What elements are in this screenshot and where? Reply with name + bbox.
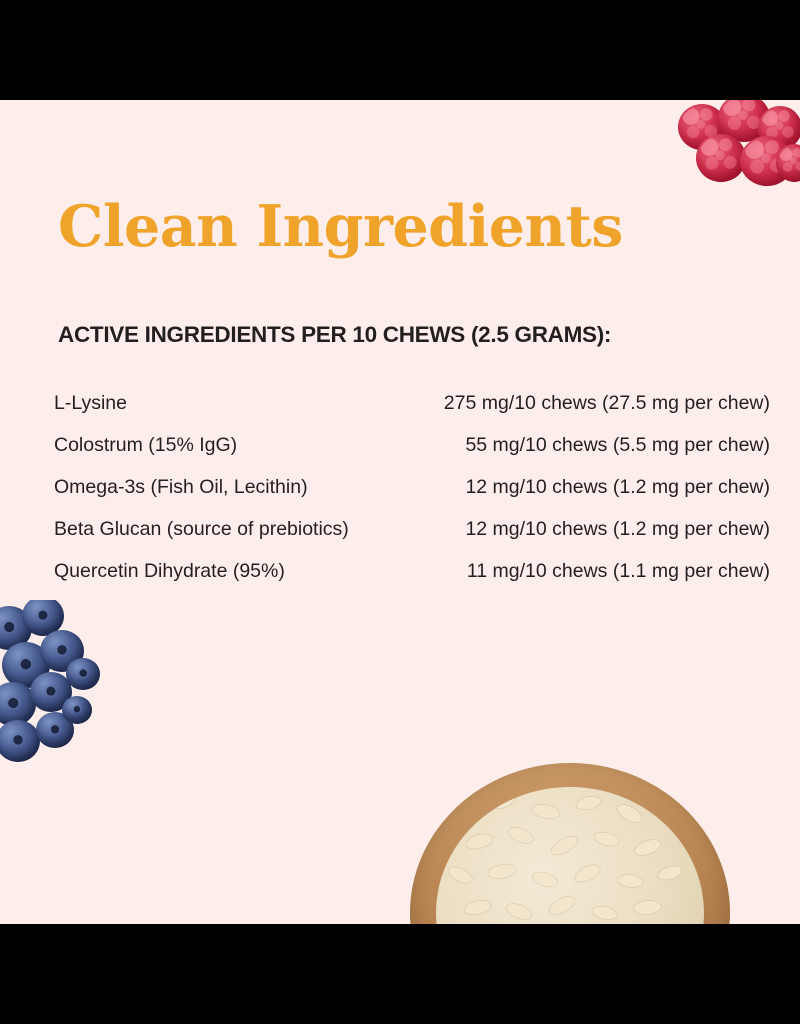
ingredient-amount: 12 mg/10 chews (1.2 mg per chew) <box>406 476 770 499</box>
ingredient-amount: 12 mg/10 chews (1.2 mg per chew) <box>406 518 770 541</box>
ingredients-table: L-Lysine 275 mg/10 chews (27.5 mg per ch… <box>54 392 774 602</box>
ingredient-name: Quercetin Dihydrate (95%) <box>54 560 406 583</box>
ingredient-amount: 11 mg/10 chews (1.1 mg per chew) <box>406 560 770 583</box>
page-title: Clean Ingredients <box>58 198 623 255</box>
ingredients-panel: Clean Ingredients ACTIVE INGREDIENTS PER… <box>0 100 800 924</box>
ingredient-amount: 275 mg/10 chews (27.5 mg per chew) <box>406 392 770 415</box>
ingredient-name: Omega-3s (Fish Oil, Lecithin) <box>54 476 406 499</box>
letterbox-top <box>0 0 800 100</box>
table-row: Omega-3s (Fish Oil, Lecithin) 12 mg/10 c… <box>54 476 774 518</box>
table-row: Beta Glucan (source of prebiotics) 12 mg… <box>54 518 774 560</box>
table-row: Quercetin Dihydrate (95%) 11 mg/10 chews… <box>54 560 774 602</box>
ingredient-amount: 55 mg/10 chews (5.5 mg per chew) <box>406 434 770 457</box>
wooden-bowl-of-oats-image <box>400 755 740 924</box>
section-subtitle: ACTIVE INGREDIENTS PER 10 CHEWS (2.5 GRA… <box>58 322 611 348</box>
raspberry-cluster-image <box>670 100 800 190</box>
ingredient-name: Beta Glucan (source of prebiotics) <box>54 518 406 541</box>
table-row: L-Lysine 275 mg/10 chews (27.5 mg per ch… <box>54 392 774 434</box>
letterbox-bottom <box>0 924 800 1024</box>
blueberry-cluster-image <box>0 600 120 790</box>
ingredient-name: Colostrum (15% IgG) <box>54 434 406 457</box>
table-row: Colostrum (15% IgG) 55 mg/10 chews (5.5 … <box>54 434 774 476</box>
ingredient-name: L-Lysine <box>54 392 406 415</box>
